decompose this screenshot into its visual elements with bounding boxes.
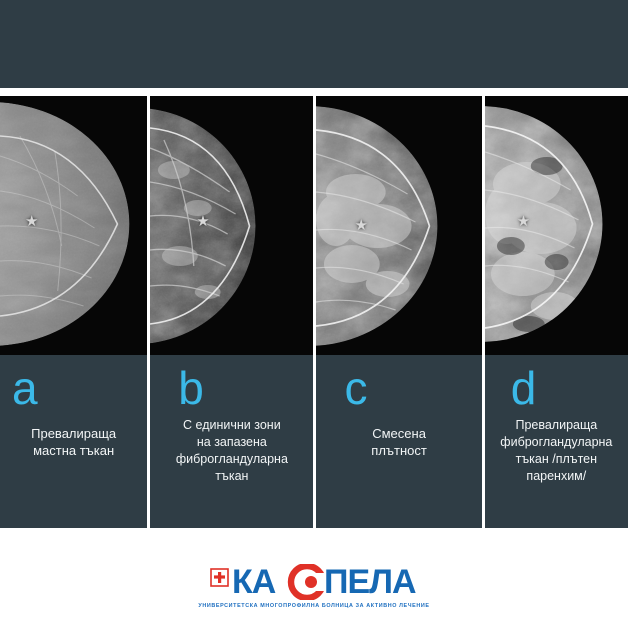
hospital-logo[interactable]: КА ПЕЛА УНИВЕРСИТЕТСКА МНОГОПРОФИЛНА БОЛ…	[198, 564, 429, 609]
panel-c-caption: c Смесена плътност	[316, 355, 481, 528]
mammogram-scattered: ★	[150, 96, 313, 355]
svg-text:КА: КА	[232, 564, 276, 600]
mammogram-fatty: ★	[0, 96, 147, 355]
density-panel-a[interactable]: ★ a Превалираща мастна тъкан	[0, 96, 147, 528]
density-panel-b[interactable]: ★ b С единични зони на запазена фиброгла…	[150, 96, 313, 528]
header-band	[0, 0, 628, 88]
panel-letter-a: a	[12, 365, 38, 411]
svg-text:ПЕЛА: ПЕЛА	[324, 564, 416, 600]
density-panel-row: ★ a Превалираща мастна тъкан	[0, 96, 628, 528]
panel-letter-d: d	[511, 365, 537, 411]
density-panel-d[interactable]: ★ d Превалираща фиброгландуларна тъкан /…	[485, 96, 628, 528]
header-divider-gap	[0, 88, 628, 96]
mammogram-fatty-image	[0, 96, 147, 355]
density-panel-c[interactable]: ★ c Смесена плътност	[316, 96, 481, 528]
mammogram-scattered-image	[150, 96, 313, 355]
panel-d-caption-text: Превалираща фиброгландуларна тъкан /плът…	[493, 417, 619, 485]
panel-a-caption-text: Превалираща мастна тъкан	[24, 425, 123, 459]
panel-b-caption: b С единични зони на запазена фиброгланд…	[150, 355, 313, 528]
medical-cross-icon	[210, 568, 229, 587]
footer: КА ПЕЛА УНИВЕРСИТЕТСКА МНОГОПРОФИЛНА БОЛ…	[0, 528, 628, 628]
panel-letter-b: b	[178, 365, 204, 411]
panel-d-caption: d Превалираща фиброгландуларна тъкан /пл…	[485, 355, 628, 528]
logo-text-kaspela: КА ПЕЛА	[232, 564, 418, 600]
logo-tagline: УНИВЕРСИТЕТСКА МНОГОПРОФИЛНА БОЛНИЦА ЗА …	[198, 602, 429, 608]
panel-a-caption: a Превалираща мастна тъкан	[0, 355, 147, 528]
panel-b-caption-text: С единични зони на запазена фиброгландул…	[169, 417, 295, 485]
panel-c-caption-text: Смесена плътност	[364, 425, 434, 459]
mammogram-dense: ★	[485, 96, 628, 355]
logo-wordmark: КА ПЕЛА	[210, 564, 418, 600]
mammogram-heterogeneous-image	[316, 96, 481, 355]
panel-letter-c: c	[344, 365, 367, 411]
breast-density-infographic: ★ a Превалираща мастна тъкан	[0, 0, 628, 628]
mammogram-dense-image	[485, 96, 628, 355]
mammogram-heterogeneous: ★	[316, 96, 481, 355]
